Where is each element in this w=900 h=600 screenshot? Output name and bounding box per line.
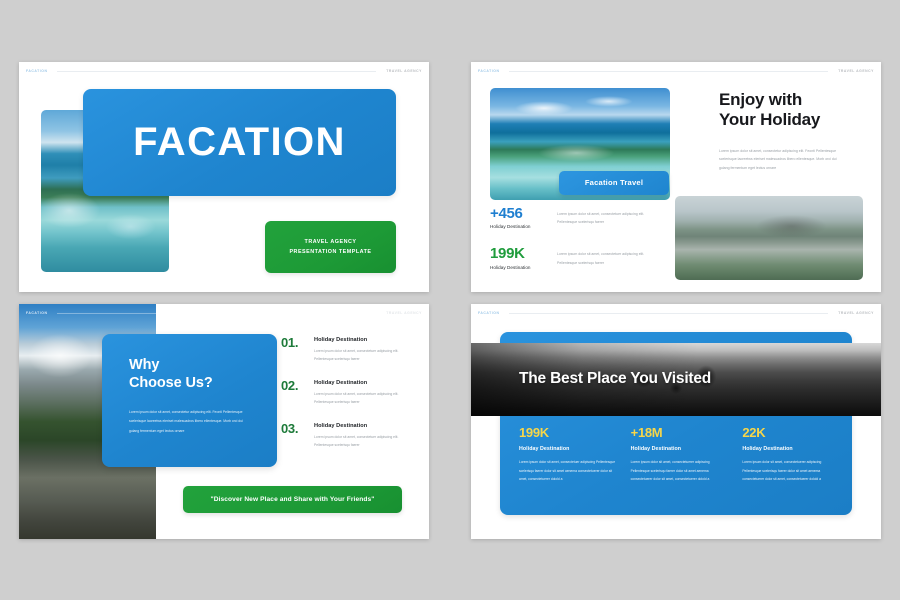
slide-1-subtitle-line1: TRAVEL AGENCY [305, 237, 357, 247]
slide-3-heading-card: Why Choose Us? Lorem ipsum dolor sit ame… [102, 334, 277, 467]
slide-3-cta-button[interactable]: "Discover New Place and Share with Your … [183, 486, 402, 513]
slide-1-rule [57, 71, 376, 72]
slide-1-agency: TRAVEL AGENCY [386, 69, 422, 73]
slide-2-stat-label: Holiday Destination [490, 224, 557, 229]
slide-2-heading-line2: Your Holiday [719, 110, 869, 131]
slide-3-item-desc: Lorem ipsum dolor sit amet, consectetuer… [314, 433, 413, 450]
slide-3-numbered-list: 01. Holiday Destination Lorem ipsum dolo… [281, 336, 413, 465]
slide-4-stat-value: 22K [742, 426, 839, 440]
slide-2-stat-value-block: 199K Holiday Destination [490, 246, 557, 270]
slide-2-travel-badge[interactable]: Facation Travel [559, 171, 669, 195]
slide-3-item-number: 02. [281, 379, 314, 392]
slide-2-chrome: FACATION TRAVEL AGENCY [471, 62, 881, 81]
slide-1-subtitle-badge[interactable]: TRAVEL AGENCY PRESENTATION TEMPLATE [265, 221, 396, 273]
slide-2-enjoy-holiday[interactable]: FACATION TRAVEL AGENCY Facation Travel E… [471, 62, 881, 292]
slide-2-stat-item: +456 Holiday Destination Lorem ipsum dol… [490, 206, 665, 230]
slide-3-item-body: Holiday Destination Lorem ipsum dolor si… [314, 379, 413, 407]
slide-4-stat-desc: Lorem ipsum dolor sit amet, consectetuer… [742, 458, 839, 484]
slide-2-brand: FACATION [478, 69, 499, 73]
slide-3-agency: TRAVEL AGENCY [386, 311, 422, 315]
slide-1-title-text: FACATION [133, 122, 346, 162]
slide-1-subtitle-line2: PRESENTATION TEMPLATE [289, 247, 371, 257]
list-item: 02. Holiday Destination Lorem ipsum dolo… [281, 379, 413, 407]
slide-1-title-card: FACATION [83, 89, 396, 196]
list-item: 03. Holiday Destination Lorem ipsum dolo… [281, 422, 413, 450]
slide-2-stat-desc: Lorem ipsum dolor sit amet, consectetuer… [557, 206, 655, 228]
slide-3-paragraph: Lorem ipsum dolor sit amet, consectetur … [129, 408, 250, 436]
slide-deck: FACATION TRAVEL AGENCY FACATION TRAVEL A… [0, 0, 900, 600]
slide-2-paragraph: Lorem ipsum dolor sit amet, consectetur … [719, 147, 841, 174]
slide-3-item-number: 01. [281, 336, 314, 349]
slide-4-stat-item: +18M Holiday Destination Lorem ipsum dol… [631, 426, 728, 484]
slide-2-stat-value-block: +456 Holiday Destination [490, 206, 557, 230]
list-item: 01. Holiday Destination Lorem ipsum dolo… [281, 336, 413, 364]
slide-4-stat-value: 199K [519, 426, 616, 440]
slide-4-stat-item: 199K Holiday Destination Lorem ipsum dol… [519, 426, 616, 484]
slide-4-stat-label: Holiday Destination [742, 446, 839, 452]
slide-4-stat-label: Holiday Destination [631, 446, 728, 452]
slide-4-best-place[interactable]: FACATION TRAVEL AGENCY The Best Place Yo… [471, 304, 881, 539]
slide-3-heading-line2: Choose Us? [129, 374, 250, 392]
slide-4-stats: 199K Holiday Destination Lorem ipsum dol… [519, 426, 839, 484]
slide-2-travel-badge-label: Facation Travel [585, 178, 643, 187]
slide-4-band-title: The Best Place You Visited [519, 370, 711, 388]
slide-2-rule [509, 71, 828, 72]
slide-3-item-body: Holiday Destination Lorem ipsum dolor si… [314, 422, 413, 450]
slide-2-agency: TRAVEL AGENCY [838, 69, 874, 73]
slide-3-cta-label: "Discover New Place and Share with Your … [211, 496, 375, 503]
slide-3-why-choose-us[interactable]: FACATION TRAVEL AGENCY Why Choose Us? Lo… [19, 304, 429, 539]
slide-4-stat-desc: Lorem ipsum dolor sit amet, consectetuer… [519, 458, 616, 484]
slide-1-cover[interactable]: FACATION TRAVEL AGENCY FACATION TRAVEL A… [19, 62, 429, 292]
slide-2-stat-value: +456 [490, 206, 557, 222]
slide-1-brand: FACATION [26, 69, 47, 73]
slide-4-stat-label: Holiday Destination [519, 446, 616, 452]
slide-4-rule [509, 313, 828, 314]
slide-4-stat-value: +18M [631, 426, 728, 440]
slide-4-photo-band: The Best Place You Visited [471, 343, 881, 416]
slide-2-heading: Enjoy with Your Holiday [719, 90, 869, 131]
slide-2-stats: +456 Holiday Destination Lorem ipsum dol… [490, 206, 665, 288]
slide-2-heading-line1: Enjoy with [719, 90, 869, 111]
slide-4-stat-desc: Lorem ipsum dolor sit amet, consectetuer… [631, 458, 728, 484]
slide-2-stat-item: 199K Holiday Destination Lorem ipsum dol… [490, 246, 665, 270]
slide-2-stat-value: 199K [490, 246, 557, 262]
slide-1-chrome: FACATION TRAVEL AGENCY [19, 62, 429, 81]
slide-2-stat-label: Holiday Destination [490, 265, 557, 270]
slide-2-stat-desc: Lorem ipsum dolor sit amet, consectetuer… [557, 246, 655, 268]
slide-3-item-desc: Lorem ipsum dolor sit amet, consectetuer… [314, 390, 413, 407]
slide-3-item-title: Holiday Destination [314, 337, 413, 343]
slide-3-item-number: 03. [281, 422, 314, 435]
slide-3-item-body: Holiday Destination Lorem ipsum dolor si… [314, 336, 413, 364]
slide-3-item-title: Holiday Destination [314, 380, 413, 386]
slide-3-item-title: Holiday Destination [314, 423, 413, 429]
slide-3-item-desc: Lorem ipsum dolor sit amet, consectetuer… [314, 347, 413, 364]
slide-3-heading: Why Choose Us? [129, 356, 250, 393]
slide-2-photo-temple [675, 196, 863, 280]
slide-4-chrome: FACATION TRAVEL AGENCY [471, 304, 881, 323]
slide-3-heading-line1: Why [129, 356, 250, 374]
slide-4-agency: TRAVEL AGENCY [838, 311, 874, 315]
slide-4-stat-item: 22K Holiday Destination Lorem ipsum dolo… [742, 426, 839, 484]
slide-4-brand: FACATION [478, 311, 499, 315]
